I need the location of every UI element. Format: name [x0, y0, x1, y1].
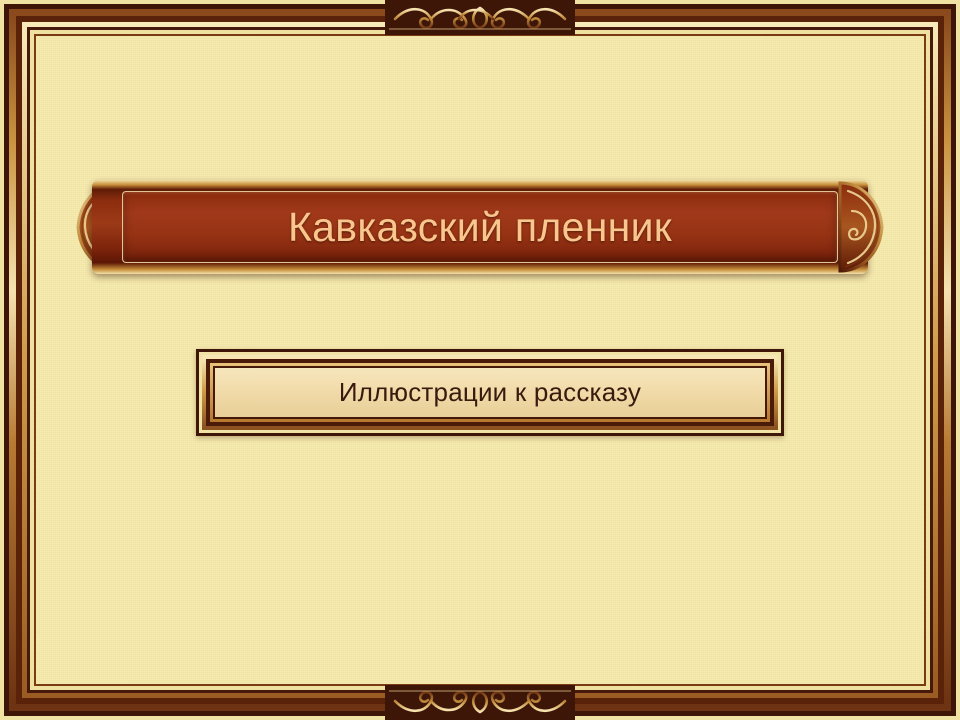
banner-inner-panel: Кавказский пленник [122, 191, 838, 263]
ornamental-scroll-icon [385, 0, 575, 35]
banner-plate: Кавказский пленник [92, 180, 868, 274]
subtitle-text: Иллюстрации к рассказу [339, 377, 641, 408]
presentation-slide: Кавказский пленник [0, 0, 960, 720]
page-title: Кавказский пленник [288, 204, 672, 251]
title-banner: Кавказский пленник [70, 177, 890, 277]
subtitle-fill: Иллюстрации к рассказу [215, 368, 765, 417]
scroll-flourish-icon-right [838, 177, 890, 277]
subtitle-box: Иллюстрации к рассказу [196, 349, 784, 436]
ornamental-scroll-icon-bottom [385, 685, 575, 720]
